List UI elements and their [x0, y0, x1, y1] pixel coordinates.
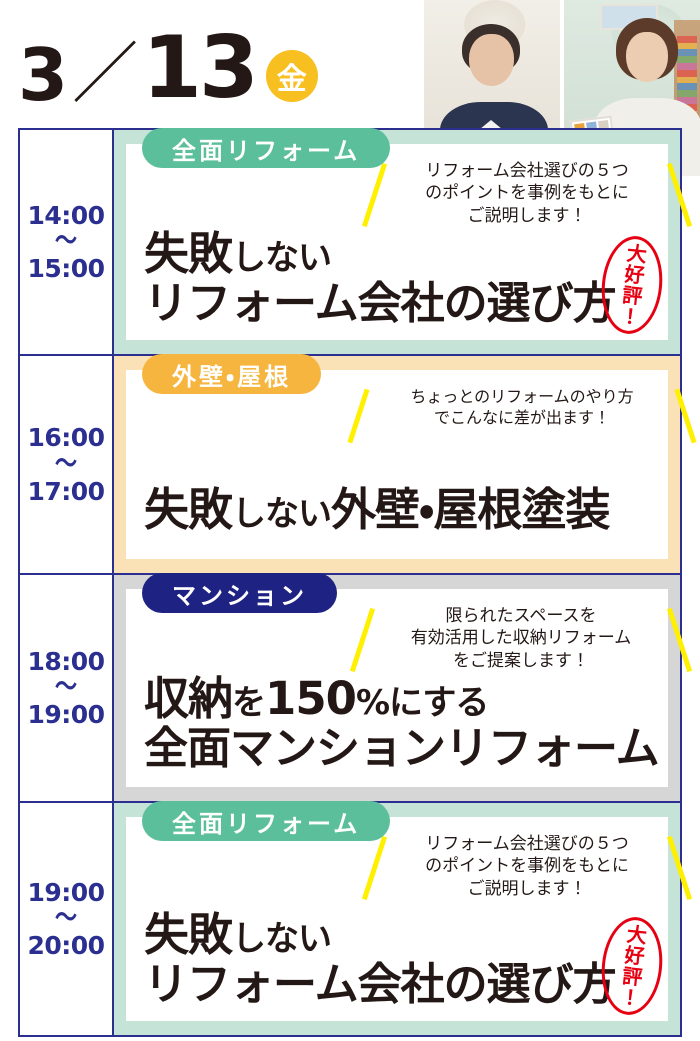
seminar-schedule-table: 14:00 〜 15:00 全面リフォーム リフォーム会社選びの５つ のポイント… [18, 128, 682, 1037]
desc-line-2: のポイントを事例をもとに [392, 855, 662, 877]
session-content: 外壁・屋根 ちょっとのリフォームのやり方 でこんなに差が出ます！ 失敗しない外壁… [114, 356, 680, 573]
title-emphasis: 失敗 [144, 483, 232, 536]
schedule-row[interactable]: 14:00 〜 15:00 全面リフォーム リフォーム会社選びの５つ のポイント… [20, 130, 680, 356]
time-separator: 〜 [55, 228, 77, 256]
desc-line-1: 限られたスペースを [380, 605, 662, 627]
desc-line-3: をご提案します！ [380, 650, 662, 672]
schedule-row[interactable]: 18:00 〜 19:00 マンション 限られたスペースを 有効活用した収納リフ… [20, 575, 680, 803]
session-title: 失敗しない リフォーム会社の選び方 [144, 230, 616, 328]
title-rest: しない [232, 919, 331, 959]
session-card: マンション 限られたスペースを 有効活用した収納リフォーム をご提案します！ 収… [126, 589, 668, 787]
date-day: 13 [142, 29, 256, 108]
time-end: 20:00 [27, 932, 104, 960]
title-line-2: リフォーム会社の選び方 [144, 961, 616, 1009]
session-card: 全面リフォーム リフォーム会社選びの５つ のポイントを事例をもとに ご説明します… [126, 817, 668, 1021]
desc-line-2: でこんなに差が出ます！ [376, 407, 668, 428]
title-rest: しない [232, 494, 331, 534]
day-of-week-badge: 金 [266, 50, 318, 102]
category-badge: 全面リフォーム [142, 801, 390, 841]
time-end: 15:00 [27, 255, 104, 283]
desc-line-2: 有効活用した収納リフォーム [380, 627, 662, 649]
face-shape [469, 34, 514, 86]
desc-line-1: リフォーム会社選びの５つ [392, 833, 662, 855]
title-rest: しない [232, 238, 331, 278]
title-emphasis: 失敗 [144, 908, 232, 961]
category-badge: 全面リフォーム [142, 128, 390, 168]
slash-right-icon [667, 608, 692, 672]
title-line-2: 全面マンションリフォーム [144, 725, 659, 773]
title-line-1: 失敗しない [144, 911, 616, 960]
title-percent: % [356, 683, 389, 723]
time-cell: 14:00 〜 15:00 [20, 130, 114, 354]
session-description: ちょっとのリフォームのやり方 でこんなに差が出ます！ [376, 386, 668, 428]
time-end: 17:00 [27, 478, 104, 506]
date-separator: ／ [72, 43, 138, 106]
slash-right-icon [674, 389, 696, 444]
title-emphasis: 失敗 [144, 227, 232, 280]
session-title: 失敗しない外壁・屋根塗装 [144, 486, 609, 535]
slash-right-icon [667, 836, 692, 900]
session-content: 全面リフォーム リフォーム会社選びの５つ のポイントを事例をもとに ご説明します… [114, 130, 680, 354]
session-content: マンション 限られたスペースを 有効活用した収納リフォーム をご提案します！ 収… [114, 575, 680, 801]
title-emphasis-2: 外壁・屋根塗装 [331, 483, 609, 536]
session-title: 失敗しない リフォーム会社の選び方 [144, 911, 616, 1009]
time-cell: 16:00 〜 17:00 [20, 356, 114, 573]
date-header: 3 ／ 13 金 リフォーム担当 取締役 服部達也 [0, 0, 700, 128]
session-card: 全面リフォーム リフォーム会社選びの５つ のポイントを事例をもとに ご説明します… [126, 144, 668, 340]
event-date: 3 ／ 13 金 [18, 22, 318, 108]
title-number: 150 [265, 672, 356, 725]
desc-line-1: ちょっとのリフォームのやり方 [376, 386, 668, 407]
slash-left-icon [362, 163, 387, 227]
title-suffix: にする [389, 683, 488, 723]
date-month: 3 [18, 42, 66, 108]
session-description: リフォーム会社選びの５つ のポイントを事例をもとに ご説明します！ [392, 160, 662, 227]
desc-line-3: ご説明します！ [392, 878, 662, 900]
schedule-row[interactable]: 16:00 〜 17:00 外壁・屋根 ちょっとのリフォームのやり方 でこんなに… [20, 356, 680, 575]
title-emphasis: 収納 [144, 672, 232, 725]
category-badge: マンション [142, 573, 337, 613]
title-particle: を [232, 683, 265, 723]
time-start: 16:00 [27, 424, 104, 452]
time-end: 19:00 [27, 701, 104, 729]
session-description: リフォーム会社選びの５つ のポイントを事例をもとに ご説明します！ [392, 833, 662, 900]
category-badge: 外壁・屋根 [142, 354, 321, 394]
session-description: 限られたスペースを 有効活用した収納リフォーム をご提案します！ [380, 605, 662, 672]
title-line-1: 失敗しない [144, 230, 616, 279]
session-title: 収納を150%にする 全面マンションリフォーム [144, 675, 659, 773]
session-content: 全面リフォーム リフォーム会社選びの５つ のポイントを事例をもとに ご説明します… [114, 803, 680, 1035]
desc-line-2: のポイントを事例をもとに [392, 182, 662, 204]
face-shape [626, 32, 668, 82]
session-card: 外壁・屋根 ちょっとのリフォームのやり方 でこんなに差が出ます！ 失敗しない外壁… [126, 370, 668, 559]
time-separator: 〜 [55, 451, 77, 479]
slash-left-icon [350, 608, 375, 672]
popular-stamp-label: 大好評！ [618, 923, 647, 1009]
slash-left-icon [347, 389, 369, 444]
title-line-2: リフォーム会社の選び方 [144, 280, 616, 328]
time-cell: 18:00 〜 19:00 [20, 575, 114, 801]
time-separator: 〜 [55, 905, 77, 933]
title-line-1: 失敗しない外壁・屋根塗装 [144, 486, 609, 535]
desc-line-3: ご説明します！ [392, 205, 662, 227]
time-cell: 19:00 〜 20:00 [20, 803, 114, 1035]
title-line-1: 収納を150%にする [144, 675, 659, 724]
popular-stamp-label: 大好評！ [618, 242, 647, 328]
schedule-row[interactable]: 19:00 〜 20:00 全面リフォーム リフォーム会社選びの５つ のポイント… [20, 803, 680, 1035]
slash-left-icon [362, 836, 387, 900]
desc-line-1: リフォーム会社選びの５つ [392, 160, 662, 182]
time-separator: 〜 [55, 674, 77, 702]
